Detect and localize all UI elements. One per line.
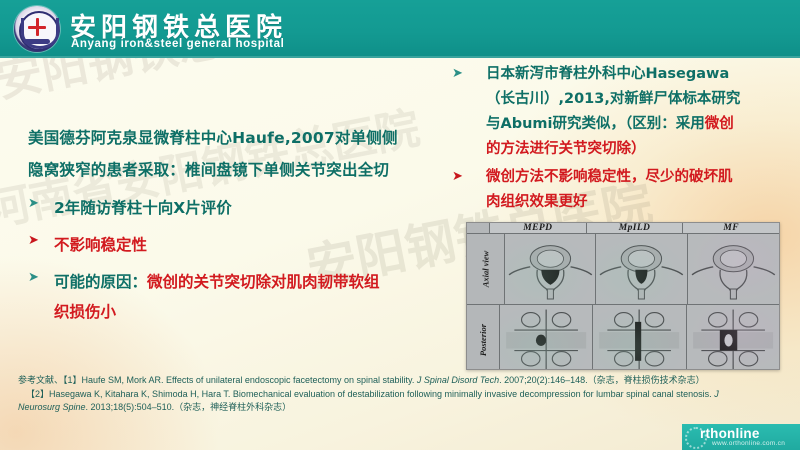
left-bullet-3-text-2: 织损伤小 [54,303,116,321]
left-bullet-1-text: 2年随访脊柱十向X片评价 [54,193,232,223]
footer-ref-2-journal-head: J [714,389,719,399]
footer-line-1: 参考文献、【1】Haufe SM, Mork AR. Effects of un… [18,374,788,388]
brand-url-text: www.orthonline.com.cn [712,440,785,447]
brand-name-text: rthonline [700,426,760,441]
right-bullet-1: ➤ 日本新泻市脊柱外科中心Hasegawa （长古川）,2013,对新鲜尸体标本… [452,62,788,162]
figure-row-axial: Axial view [467,234,779,305]
right-bullet-1-line-2: （长古川）,2013,对新鲜尸体标本研究 [486,87,788,112]
footer-ref-2: 【2】Hasegawa K, Kitahara K, Shimoda H, Ha… [26,389,712,399]
figure-cell-axial-mpild [596,234,688,304]
hospital-emblem-icon [14,6,60,52]
figure-col-header-mpild: MpILD [587,223,684,233]
slide-canvas: 安阳钢铁总医院 王红建 河南省安阳钢铁总医院 安阳钢铁总医院 安阳钢铁总医院 A… [0,0,800,450]
right-bullet-2-line-2: 肉组织效果更好 [486,190,788,215]
arrow-bullet-icon: ➤ [452,169,463,184]
right-bullet-1-line-3a: 与Abumi研究类似，（区别：采用 [486,116,705,132]
right-bullet-2-line-1: 微创方法不影响稳定性，尽少的破坏肌 [486,165,788,190]
left-bullet-1: ➤ 2年随访脊柱十向X片评价 [28,193,428,223]
figure-cell-axial-mepd [505,234,597,304]
arrow-bullet-icon: ➤ [28,234,54,247]
figure-corner-cell [467,223,490,233]
footer-line-3: Neurosurg Spine. 2013;18(5):504–510.（杂志，… [18,401,788,415]
left-bullet-3-text-1: 微创的关节突切除对肌肉韧带软组 [147,273,380,291]
figure-row-label-posterior: Posterior [467,305,500,370]
right-bullet-2: ➤ 微创方法不影响稳定性，尽少的破坏肌 肉组织效果更好 [452,165,788,215]
right-bullet-1-line-4: 的方法进行关节突切除） [486,137,788,162]
right-bullet-1-highlight: 微创 [705,116,734,132]
figure-cell-axial-mf [688,234,779,304]
reference-footer: 参考文献、【1】Haufe SM, Mork AR. Effects of un… [18,374,788,415]
left-bullet-3: ➤ 可能的原因：微创的关节突切除对肌肉韧带软组 织损伤小 [28,267,428,327]
right-bullet-1-line-3: 与Abumi研究类似，（区别：采用微创 [486,112,788,137]
left-bullet-3-body: 可能的原因：微创的关节突切除对肌肉韧带软组 织损伤小 [54,267,380,327]
footer-line-2: 【2】Hasegawa K, Kitahara K, Shimoda H, Ha… [18,388,788,402]
figure-cell-posterior-mepd [500,305,593,370]
left-lead-line-2: 隐窝狭窄的患者采取：椎间盘镜下单侧关节突出全切 [28,154,428,186]
figure-col-header-mepd: MEPD [490,223,587,233]
arrow-bullet-icon: ➤ [28,271,54,284]
figure-row-posterior: Posterior [467,305,779,370]
anatomical-comparison-figure: MEPD MpILD MF Axial view [466,222,780,370]
right-bullet-1-line-1: 日本新泻市脊柱外科中心Hasegawa [486,62,788,87]
footer-ref-3-tail: . 2013;18(5):504–510.（杂志，神经脊柱外科杂志） [86,402,292,412]
footer-label: 参考文献、 [18,375,63,385]
slide-header: 安阳钢铁总医院 Anyang iron&steel general hospit… [0,0,800,58]
footer-ref-1-journal: J Spinal Disord Tech [417,375,499,385]
figure-cell-posterior-mf [687,305,779,370]
left-bullet-2: ➤ 不影响稳定性 [28,230,428,260]
arrow-bullet-icon: ➤ [28,197,54,210]
hospital-name-en: Anyang iron&steel general hospital [71,38,284,50]
footer-ref-1-tail: . 2007;20(2):146–148.（杂志，脊柱损伤技术杂志） [499,375,705,385]
left-lead-line-1: 美国德芬阿克泉显微脊柱中心Haufe,2007对单侧侧 [28,122,428,154]
orthonline-brand-badge[interactable]: rthonline www.orthonline.com.cn [682,424,800,450]
figure-col-header-mf: MF [683,223,779,233]
arrow-bullet-icon: ➤ [452,66,463,81]
right-content-column: ➤ 日本新泻市脊柱外科中心Hasegawa （长古川）,2013,对新鲜尸体标本… [452,62,788,215]
left-bullet-2-text: 不影响稳定性 [54,230,147,260]
figure-cell-posterior-mpild [593,305,686,370]
left-bullet-3-label: 可能的原因： [54,273,147,291]
figure-header-row: MEPD MpILD MF [467,223,779,234]
footer-ref-1: 【1】Haufe SM, Mork AR. Effects of unilate… [63,375,414,385]
footer-ref-3-journal: Neurosurg Spine [18,402,86,412]
figure-row-label-axial: Axial view [467,234,505,304]
left-content-column: 美国德芬阿克泉显微脊柱中心Haufe,2007对单侧侧 隐窝狭窄的患者采取：椎间… [28,122,428,327]
